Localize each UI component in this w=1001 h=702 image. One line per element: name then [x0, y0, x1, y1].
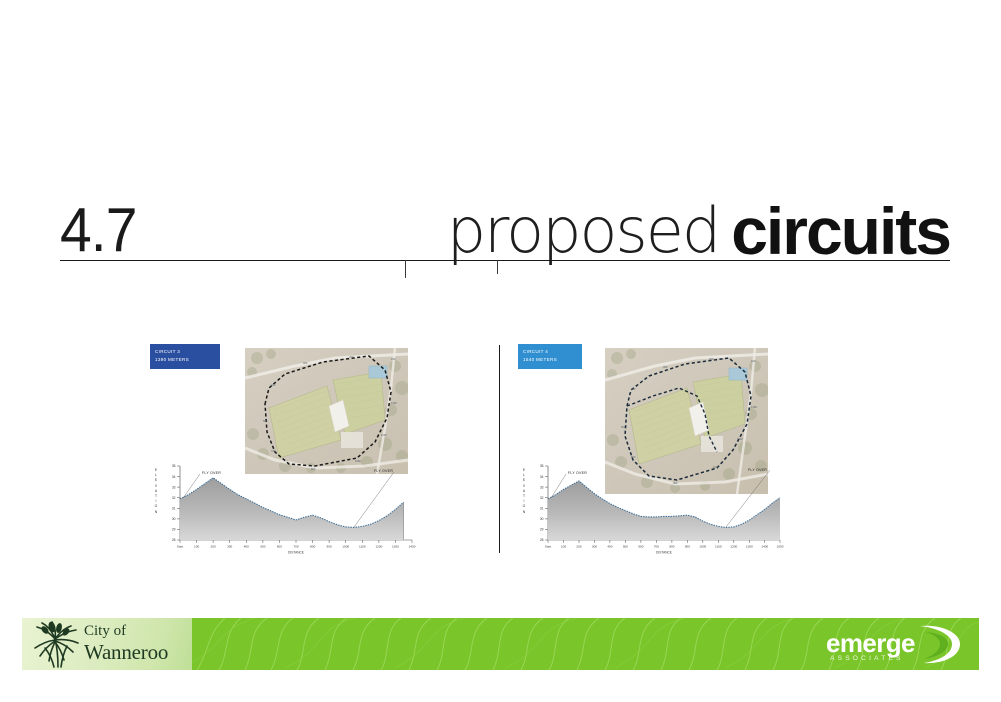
svg-text:28: 28 [172, 538, 176, 542]
title-underline [60, 260, 950, 261]
svg-text:1200: 1200 [391, 401, 397, 405]
svg-text:34: 34 [172, 475, 176, 479]
svg-text:300: 300 [227, 545, 232, 549]
svg-text:100: 100 [751, 359, 756, 363]
svg-text:400: 400 [631, 387, 636, 391]
svg-text:300: 300 [592, 545, 597, 549]
svg-text:500: 500 [260, 545, 265, 549]
svg-text:500: 500 [263, 419, 268, 423]
circuit-panel-4: CIRCUIT 4 1540 METERS [518, 330, 988, 570]
wanneroo-line-2: Wanneroo [84, 642, 168, 663]
title-tick-right [497, 260, 498, 274]
svg-text:900: 900 [685, 545, 690, 549]
circuit-3-badge: CIRCUIT 3 1390 METERS [150, 344, 220, 369]
svg-text:1300: 1300 [392, 545, 399, 549]
svg-text:200: 200 [576, 545, 581, 549]
slide-footer: emerge ASSOCIATES [22, 618, 979, 670]
circuits-content: CIRCUIT 3 1390 METERS [0, 330, 1001, 570]
svg-text:1400: 1400 [751, 405, 757, 409]
svg-text:200: 200 [709, 357, 714, 361]
circuit-4-y-axis-label: ELEVATION [520, 468, 528, 515]
svg-text:32: 32 [172, 496, 176, 500]
circuit-3-y-axis-label: ELEVATION [152, 468, 160, 515]
city-of-wanneroo-logo: City of Wanneroo [22, 618, 192, 670]
svg-text:1100: 1100 [359, 545, 366, 549]
svg-text:31: 31 [540, 507, 544, 511]
svg-text:29: 29 [540, 528, 544, 532]
title-bold-word: circuits [731, 200, 950, 262]
svg-text:900: 900 [327, 545, 332, 549]
circuit-4-chart-svg: 35 34 33 32 31 30 29 28 [518, 458, 788, 558]
svg-text:100: 100 [561, 545, 566, 549]
svg-text:700: 700 [293, 545, 298, 549]
emerge-tagline: ASSOCIATES [830, 655, 904, 662]
svg-text:300: 300 [303, 361, 308, 365]
svg-text:1000: 1000 [699, 545, 706, 549]
circuit-3-badge-title: CIRCUIT 3 [155, 348, 215, 356]
svg-text:500: 500 [623, 545, 628, 549]
svg-text:30: 30 [540, 517, 544, 521]
svg-text:29: 29 [172, 528, 176, 532]
svg-text:700: 700 [654, 545, 659, 549]
svg-text:33: 33 [540, 485, 544, 489]
svg-text:200: 200 [211, 545, 216, 549]
svg-text:Start: Start [177, 545, 184, 549]
svg-text:600: 600 [638, 545, 643, 549]
footer-green-band: emerge ASSOCIATES [185, 618, 979, 670]
circuit-4-elevation-chart: ELEVATION [518, 458, 788, 558]
svg-text:400: 400 [607, 545, 612, 549]
svg-text:31: 31 [172, 507, 176, 511]
title-row: 4.7 proposed circuits [60, 188, 950, 262]
svg-text:1100: 1100 [715, 545, 722, 549]
svg-text:32: 32 [540, 496, 544, 500]
svg-text:35: 35 [540, 464, 544, 468]
svg-text:30: 30 [172, 517, 176, 521]
svg-text:DISTANCE: DISTANCE [288, 551, 304, 555]
svg-text:1100: 1100 [381, 433, 387, 437]
svg-text:800: 800 [310, 545, 315, 549]
wanneroo-wordmark: City of Wanneroo [84, 624, 168, 663]
svg-text:1200: 1200 [375, 545, 382, 549]
aerial-map-3-svg: 100200 300400 500700 8001000 11001200 [245, 348, 408, 474]
svg-text:200: 200 [349, 355, 354, 359]
slide-number: 4.7 [60, 200, 137, 262]
title-light-word: proposed [447, 200, 720, 262]
svg-text:33: 33 [172, 485, 176, 489]
circuit-3-chart-svg: 35 34 33 32 31 30 29 28 [150, 458, 420, 558]
circuit-3-flyover-right: FLY OVER [374, 469, 393, 473]
svg-text:100: 100 [194, 545, 199, 549]
svg-text:600: 600 [621, 425, 626, 429]
circuit-4-flyover-left: FLY OVER [568, 471, 587, 475]
svg-text:1500: 1500 [777, 545, 784, 549]
svg-text:100: 100 [391, 357, 396, 361]
page-title: 4.7 proposed circuits [60, 188, 950, 270]
svg-text:Start: Start [545, 545, 552, 549]
svg-text:600: 600 [277, 545, 282, 549]
circuit-3-flyover-left: FLY OVER [202, 471, 221, 475]
svg-text:1400: 1400 [761, 545, 768, 549]
svg-text:28: 28 [540, 538, 544, 542]
title-text-group: proposed circuits [447, 200, 950, 262]
circuit-3-elevation-chart: ELEVATION [150, 458, 420, 558]
circuit-4-flyover-right: FLY OVER [748, 468, 767, 472]
svg-text:400: 400 [244, 545, 249, 549]
svg-text:700: 700 [271, 449, 276, 453]
svg-text:1000: 1000 [342, 545, 349, 549]
title-tick-left [405, 260, 406, 278]
svg-text:800: 800 [669, 545, 674, 549]
svg-text:DISTANCE: DISTANCE [656, 551, 672, 555]
circuit-3-aerial-map: 100200 300400 500700 8001000 11001200 [245, 348, 408, 474]
svg-text:1200: 1200 [730, 545, 737, 549]
circuit-3-badge-length: 1390 METERS [155, 356, 215, 364]
svg-text:400: 400 [271, 383, 276, 387]
grasstree-icon [28, 621, 90, 669]
svg-text:300: 300 [663, 365, 668, 369]
svg-text:1300: 1300 [746, 545, 753, 549]
emerge-associates-logo: emerge ASSOCIATES [824, 622, 969, 666]
circuit-4-badge: CIRCUIT 4 1540 METERS [518, 344, 582, 369]
svg-text:1400: 1400 [409, 545, 416, 549]
svg-text:1200: 1200 [737, 437, 743, 441]
svg-text:34: 34 [540, 475, 544, 479]
svg-text:35: 35 [172, 464, 176, 468]
wanneroo-line-1: City of [84, 624, 168, 639]
circuit-4-badge-title: CIRCUIT 4 [523, 348, 577, 356]
circuit-4-badge-length: 1540 METERS [523, 356, 577, 364]
